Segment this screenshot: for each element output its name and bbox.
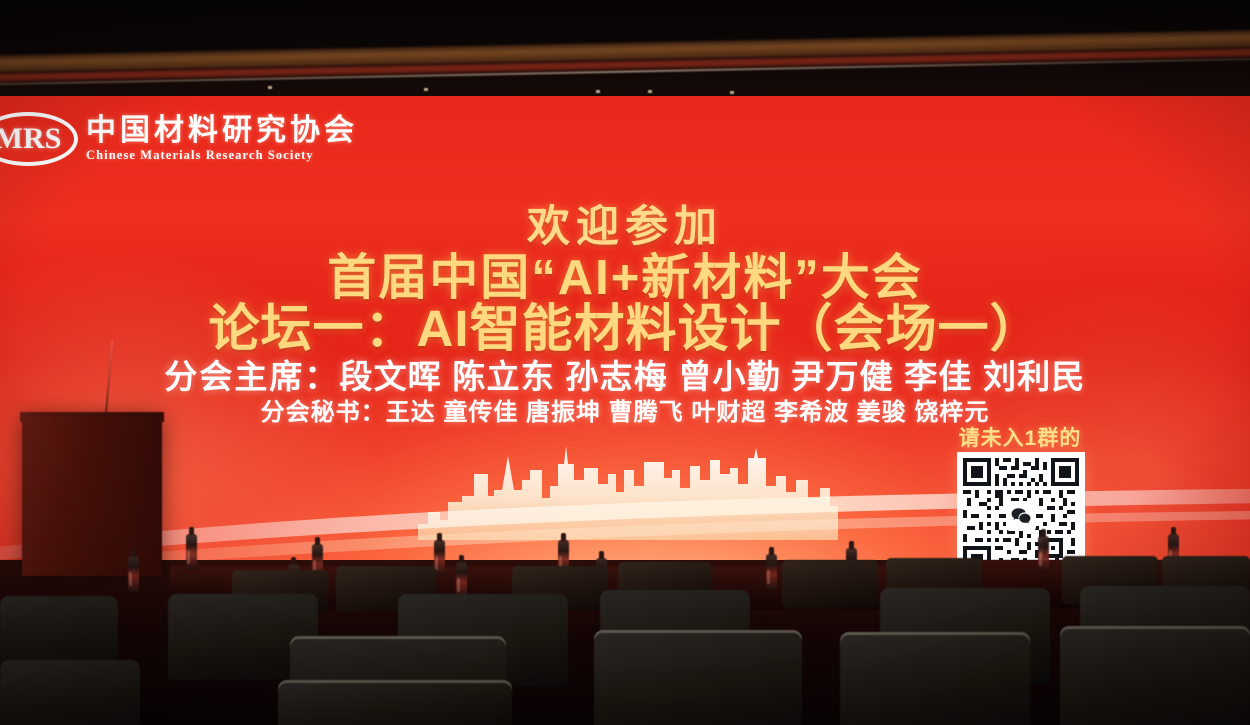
ceiling-light-dot — [268, 86, 272, 89]
hall-ceiling — [0, 0, 1250, 96]
cmrs-logo: MRS 中国材料研究协会 Chinese Materials Research … — [0, 112, 358, 166]
qr-instruction-text: 请未入1群的 — [925, 422, 1115, 452]
mrs-wordmark: MRS — [0, 112, 78, 166]
ceiling-light-dot — [730, 91, 734, 94]
stage-floor — [0, 560, 1250, 725]
ceiling-light-dot — [596, 90, 600, 93]
session-secretaries-names: 王达 童传佳 唐振坤 曹腾飞 叶财超 李希波 姜骏 饶梓元 — [386, 399, 990, 426]
session-chairs-names: 段文晖 陈立东 孙志梅 曾小勤 尹万健 李佳 刘利民 — [339, 358, 1085, 395]
ceiling-light-dot — [424, 88, 428, 91]
org-name-en: Chinese Materials Research Society — [86, 148, 358, 163]
conference-photo-scene: MRS 中国材料研究协会 Chinese Materials Research … — [0, 0, 1250, 725]
ceiling-light-dot — [648, 90, 652, 93]
org-name-cn: 中国材料研究协会 — [86, 115, 358, 147]
session-chairs-line: 分会主席：段文晖 陈立东 孙志梅 曾小勤 尹万健 李佳 刘利民 — [0, 350, 1250, 398]
mrs-ellipse-icon: MRS — [0, 112, 78, 166]
wechat-glyph — [1010, 507, 1032, 525]
session-chairs-label: 分会主席： — [164, 358, 339, 395]
session-secretaries-label: 分会秘书： — [261, 399, 386, 426]
wechat-logo-icon — [1006, 501, 1036, 531]
